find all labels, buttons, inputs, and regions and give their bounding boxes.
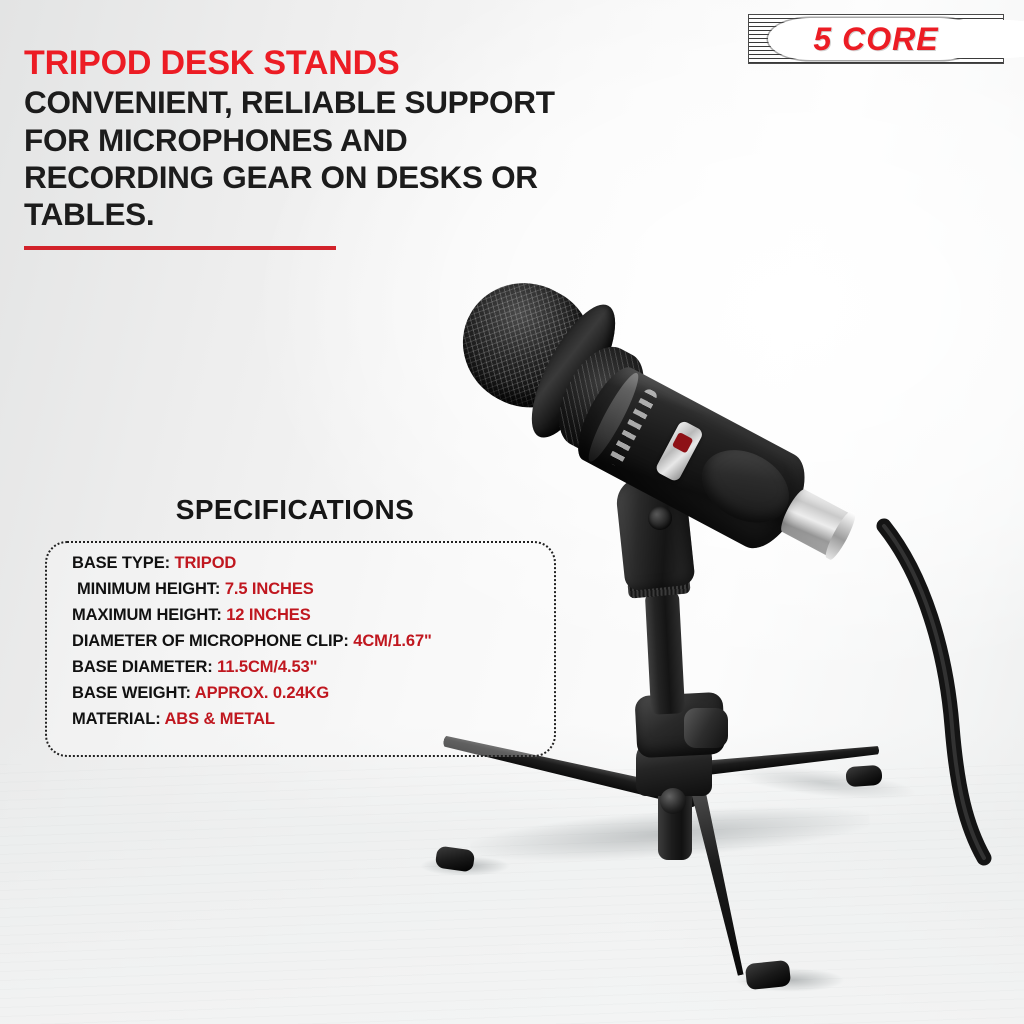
tilt-hinge	[634, 692, 725, 759]
base-center-post	[658, 778, 692, 860]
five-core-logo: 5 CORE	[748, 14, 1004, 64]
xlr-connector	[777, 487, 858, 560]
clip-screw-icon	[647, 505, 673, 531]
desk-surface	[0, 724, 1024, 1024]
spec-value: TRIPOD	[175, 554, 237, 572]
spec-value: 4CM/1.67"	[353, 632, 431, 650]
tripod-foot-rear-right	[845, 765, 882, 787]
tripod-hub	[636, 740, 712, 796]
tripod-foot-front	[745, 960, 791, 990]
spec-row-base-diameter: BASE DIAMETER: 11.5CM/4.53"	[72, 654, 552, 680]
spec-label: BASE DIAMETER:	[72, 658, 213, 676]
tripod-leg-front	[686, 787, 752, 978]
product-infographic-page: 5 CORE TRIPOD DESK STANDS CONVENIENT, RE…	[0, 0, 1024, 1024]
mic-inner-grille	[544, 335, 658, 464]
extension-shaft	[645, 591, 685, 715]
rear-leg-shadow	[734, 761, 916, 806]
shaft-lock-nut	[627, 575, 690, 598]
xlr-cable	[880, 520, 1024, 850]
spec-label: MATERIAL:	[72, 710, 161, 728]
mic-grille-head	[441, 261, 611, 429]
mic-body-ring	[582, 369, 645, 466]
spec-value: 12 INCHES	[226, 606, 310, 624]
spec-row-clip-diameter: DIAMETER OF MICROPHONE CLIP: 4CM/1.67"	[72, 628, 552, 654]
spec-row-maximum-height: MAXIMUM HEIGHT: 12 INCHES	[72, 602, 552, 628]
tripod-leg-rear-right	[689, 742, 880, 777]
spec-value: ABS & METAL	[164, 710, 274, 728]
mic-body	[567, 360, 819, 560]
left-foot-shadow	[420, 856, 510, 876]
mic-switch-indicator	[672, 432, 694, 454]
mic-power-switch	[654, 419, 704, 482]
specifications-heading: SPECIFICATIONS	[60, 494, 530, 526]
base-shadow	[469, 798, 871, 870]
spec-row-material: MATERIAL: ABS & METAL	[72, 706, 552, 732]
spec-row-base-type: BASE TYPE: TRIPOD	[72, 550, 552, 576]
microphone-clip	[614, 473, 695, 592]
hub-screw-icon	[660, 788, 686, 814]
red-divider-rule	[24, 246, 336, 250]
page-subtitle: CONVENIENT, RELIABLE SUPPORT FOR MICROPH…	[24, 84, 602, 233]
mic-handle-grip	[689, 436, 801, 537]
spec-label: BASE WEIGHT:	[72, 684, 191, 702]
spec-label: MAXIMUM HEIGHT:	[72, 606, 222, 624]
tilt-knob	[684, 708, 728, 748]
mic-collar	[516, 294, 631, 449]
page-title: TRIPOD DESK STANDS	[24, 46, 624, 81]
spec-label: BASE TYPE:	[72, 554, 170, 572]
spec-value: APPROX. 0.24KG	[195, 684, 329, 702]
logo-text: 5 CORE	[748, 14, 1004, 64]
specifications-list: BASE TYPE: TRIPOD MINIMUM HEIGHT: 7.5 IN…	[72, 550, 552, 732]
tripod-foot-left	[435, 845, 476, 872]
spec-row-base-weight: BASE WEIGHT: APPROX. 0.24KG	[72, 680, 552, 706]
front-foot-shadow	[735, 968, 845, 992]
spec-row-minimum-height: MINIMUM HEIGHT: 7.5 INCHES	[72, 576, 552, 602]
spec-label: MINIMUM HEIGHT:	[77, 580, 220, 598]
spec-value: 11.5CM/4.53"	[217, 658, 317, 676]
spec-label: DIAMETER OF MICROPHONE CLIP:	[72, 632, 349, 650]
headline-block: TRIPOD DESK STANDS CONVENIENT, RELIABLE …	[24, 46, 624, 233]
xlr-collar-band	[822, 509, 859, 561]
mic-body-markings	[607, 387, 659, 468]
spec-value: 7.5 INCHES	[225, 580, 314, 598]
